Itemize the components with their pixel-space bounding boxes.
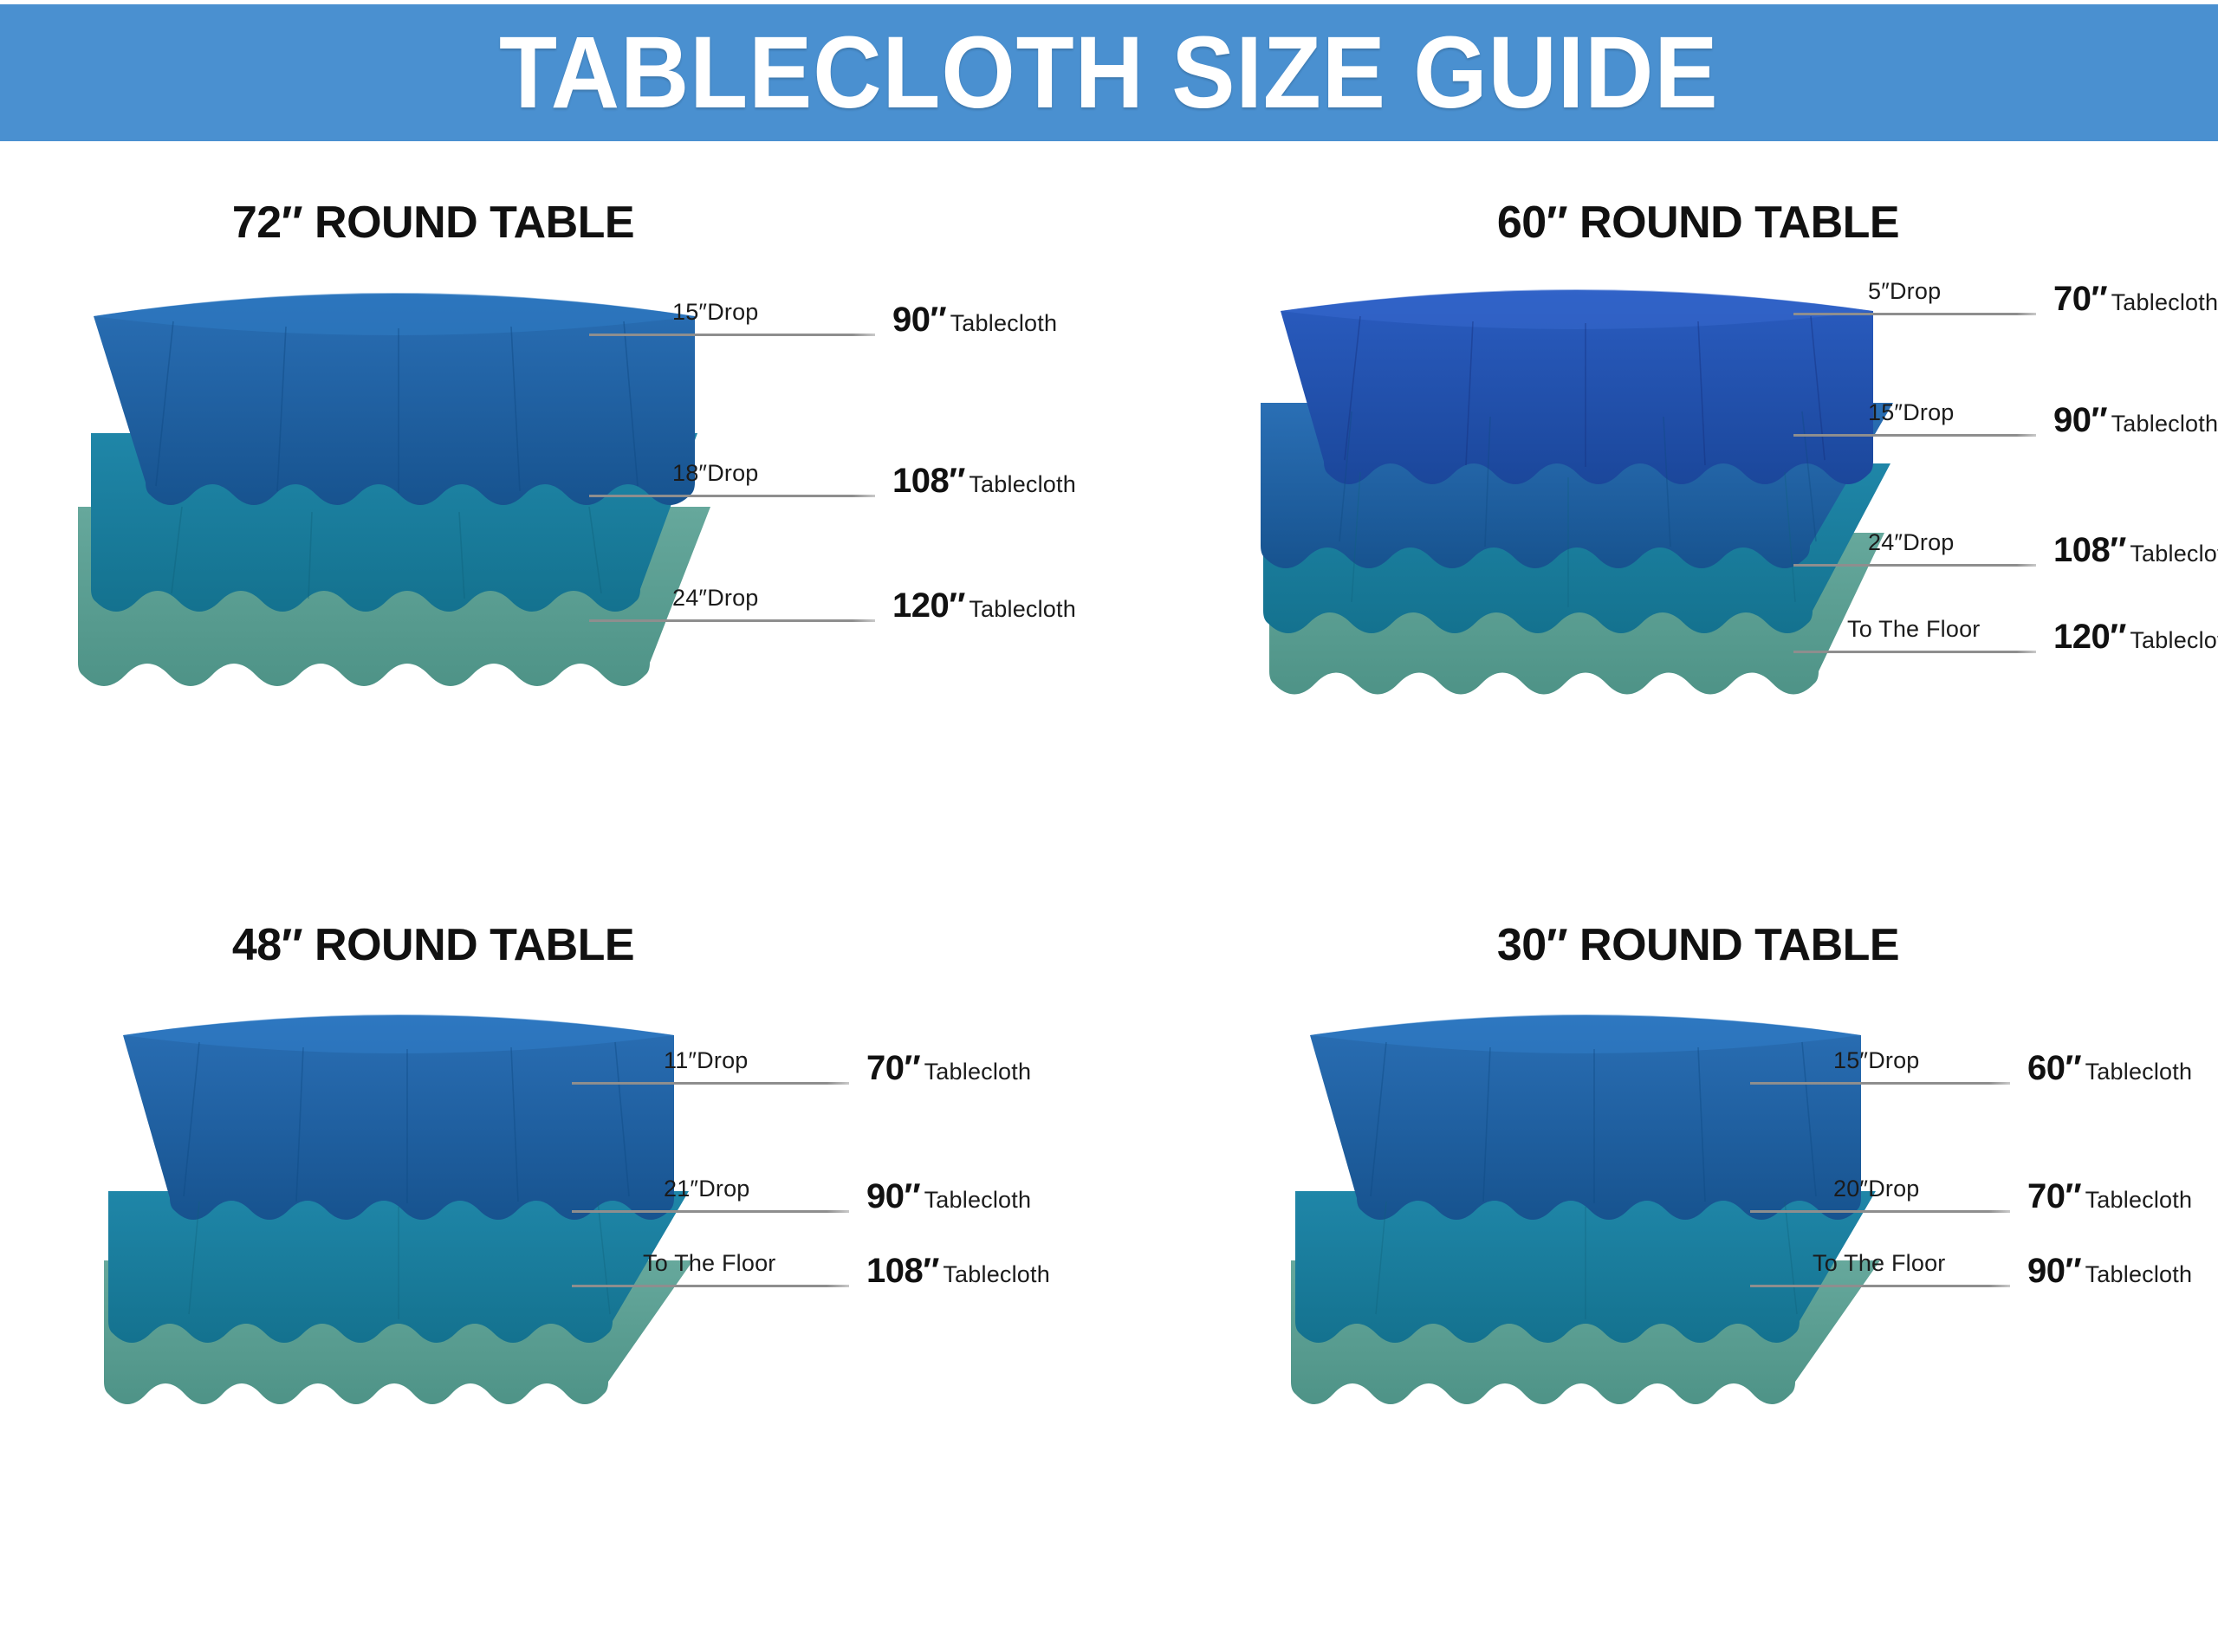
leader-line <box>1793 564 2036 567</box>
size-caption: Tablecloth <box>2111 411 2218 437</box>
callout-row: 20″Drop 70″ Tablecloth <box>1750 1176 2218 1259</box>
size-value: 70″ <box>866 1049 920 1087</box>
size-caption: Tablecloth <box>2085 1261 2193 1287</box>
size-value: 90″ <box>2053 401 2107 439</box>
header-banner: TABLECLOTH SIZE GUIDE <box>0 4 2218 141</box>
panel-title-30: 30″ ROUND TABLE <box>1265 919 2131 971</box>
size-caption: Tablecloth <box>2111 289 2218 315</box>
size-caption: Tablecloth <box>2130 627 2218 653</box>
panel-title-72: 72″ ROUND TABLE <box>0 197 866 249</box>
leader-line <box>572 1082 849 1085</box>
size-value: 90″ <box>2027 1252 2081 1290</box>
size-block: 90″ Tablecloth <box>866 1179 1083 1215</box>
size-caption: Tablecloth <box>943 1261 1050 1287</box>
size-value: 90″ <box>866 1177 920 1215</box>
drop-label: 15″Drop <box>1868 399 1955 426</box>
size-block: 120″ Tablecloth <box>892 588 1109 625</box>
size-block: 70″ Tablecloth <box>2027 1179 2218 1215</box>
panel-72-round-table: 72″ ROUND TABLE <box>0 141 1109 897</box>
size-caption: Tablecloth <box>2085 1187 2193 1213</box>
drop-label: 15″Drop <box>1833 1047 1920 1074</box>
leader-line <box>1750 1082 2010 1085</box>
size-block: 108″ Tablecloth <box>2053 533 2218 569</box>
callout-row: 21″Drop 90″ Tablecloth <box>572 1176 1109 1259</box>
callouts-72: 15″Drop 90″ Tablecloth 18″Drop 108″ Tabl… <box>589 245 1109 800</box>
size-caption: Tablecloth <box>924 1187 1032 1213</box>
drop-label: 11″Drop <box>664 1047 749 1074</box>
drop-label: 18″Drop <box>672 460 759 487</box>
callout-row: 18″Drop 108″ Tablecloth <box>589 460 1109 543</box>
size-value: 60″ <box>2027 1049 2081 1087</box>
drop-label: 15″Drop <box>672 299 759 326</box>
drop-label: To The Floor <box>1847 616 1980 643</box>
size-block: 60″ Tablecloth <box>2027 1051 2218 1087</box>
callout-row: 15″Drop 90″ Tablecloth <box>1793 399 2218 483</box>
panel-48-round-table: 48″ ROUND TABLE <box>0 897 1109 1652</box>
size-value: 120″ <box>2053 618 2126 656</box>
callout-row: To The Floor 90″ Tablecloth <box>1750 1250 2218 1333</box>
leader-line <box>589 619 875 622</box>
drop-label: 24″Drop <box>1868 529 1955 556</box>
callout-row: To The Floor 108″ Tablecloth <box>572 1250 1109 1333</box>
size-caption: Tablecloth <box>924 1059 1032 1085</box>
callout-row: To The Floor 120″ Tablecloth <box>1793 616 2218 699</box>
size-block: 70″ Tablecloth <box>866 1051 1083 1087</box>
size-value: 70″ <box>2027 1177 2081 1215</box>
leader-line <box>1793 651 2036 653</box>
size-value: 90″ <box>892 301 946 339</box>
callout-row: 24″Drop 120″ Tablecloth <box>589 585 1109 668</box>
cloth-layer-royal-blue <box>1281 289 1873 484</box>
panel-title-60: 60″ ROUND TABLE <box>1265 197 2131 249</box>
panel-60-round-table: 60″ ROUND TABLE <box>1109 141 2218 897</box>
leader-line <box>1793 434 2036 437</box>
size-caption: Tablecloth <box>969 596 1076 622</box>
size-block: 90″ Tablecloth <box>2027 1254 2218 1290</box>
panel-grid: 72″ ROUND TABLE <box>0 141 2218 1652</box>
size-caption: Tablecloth <box>969 471 1076 497</box>
size-block: 90″ Tablecloth <box>892 302 1109 339</box>
leader-line <box>1750 1285 2010 1287</box>
size-caption: Tablecloth <box>2130 541 2218 567</box>
size-block: 120″ Tablecloth <box>2053 619 2218 656</box>
leader-line <box>1793 313 2036 315</box>
drop-label: 20″Drop <box>1833 1176 1920 1202</box>
leader-line <box>589 334 875 336</box>
callout-row: 11″Drop 70″ Tablecloth <box>572 1047 1109 1130</box>
drop-label: 24″Drop <box>672 585 759 612</box>
size-value: 108″ <box>866 1252 939 1290</box>
size-block: 108″ Tablecloth <box>892 463 1109 500</box>
leader-line <box>589 495 875 497</box>
size-value: 70″ <box>2053 280 2107 318</box>
size-block: 108″ Tablecloth <box>866 1254 1083 1290</box>
size-value: 120″ <box>892 586 965 625</box>
size-caption: Tablecloth <box>950 310 1058 336</box>
page-title: TABLECLOTH SIZE GUIDE <box>499 22 1719 124</box>
size-caption: Tablecloth <box>2085 1059 2193 1085</box>
callout-row: 24″Drop 108″ Tablecloth <box>1793 529 2218 612</box>
size-value: 108″ <box>2053 531 2126 569</box>
drop-label: 21″Drop <box>664 1176 750 1202</box>
tablecloth-size-guide-page: TABLECLOTH SIZE GUIDE 72″ ROUND TABLE <box>0 0 2218 1652</box>
panel-title-48: 48″ ROUND TABLE <box>0 919 866 971</box>
drop-label: 5″Drop <box>1868 278 1941 305</box>
callouts-48: 11″Drop 70″ Tablecloth 21″Drop 90″ Table… <box>572 1027 1109 1581</box>
callout-row: 5″Drop 70″ Tablecloth <box>1793 278 2218 361</box>
callout-row: 15″Drop 90″ Tablecloth <box>589 299 1109 382</box>
panel-30-round-table: 30″ ROUND TABLE <box>1109 897 2218 1652</box>
leader-line <box>572 1210 849 1213</box>
drop-label: To The Floor <box>1813 1250 1945 1277</box>
leader-line <box>572 1285 849 1287</box>
size-block: 90″ Tablecloth <box>2053 403 2218 439</box>
drop-label: To The Floor <box>643 1250 775 1277</box>
callouts-60: 5″Drop 70″ Tablecloth 15″Drop 90″ Tablec… <box>1793 245 2218 800</box>
callouts-30: 15″Drop 60″ Tablecloth 20″Drop 70″ Table… <box>1750 1027 2218 1581</box>
size-block: 70″ Tablecloth <box>2053 282 2218 318</box>
leader-line <box>1750 1210 2010 1213</box>
callout-row: 15″Drop 60″ Tablecloth <box>1750 1047 2218 1130</box>
size-value: 108″ <box>892 462 965 500</box>
